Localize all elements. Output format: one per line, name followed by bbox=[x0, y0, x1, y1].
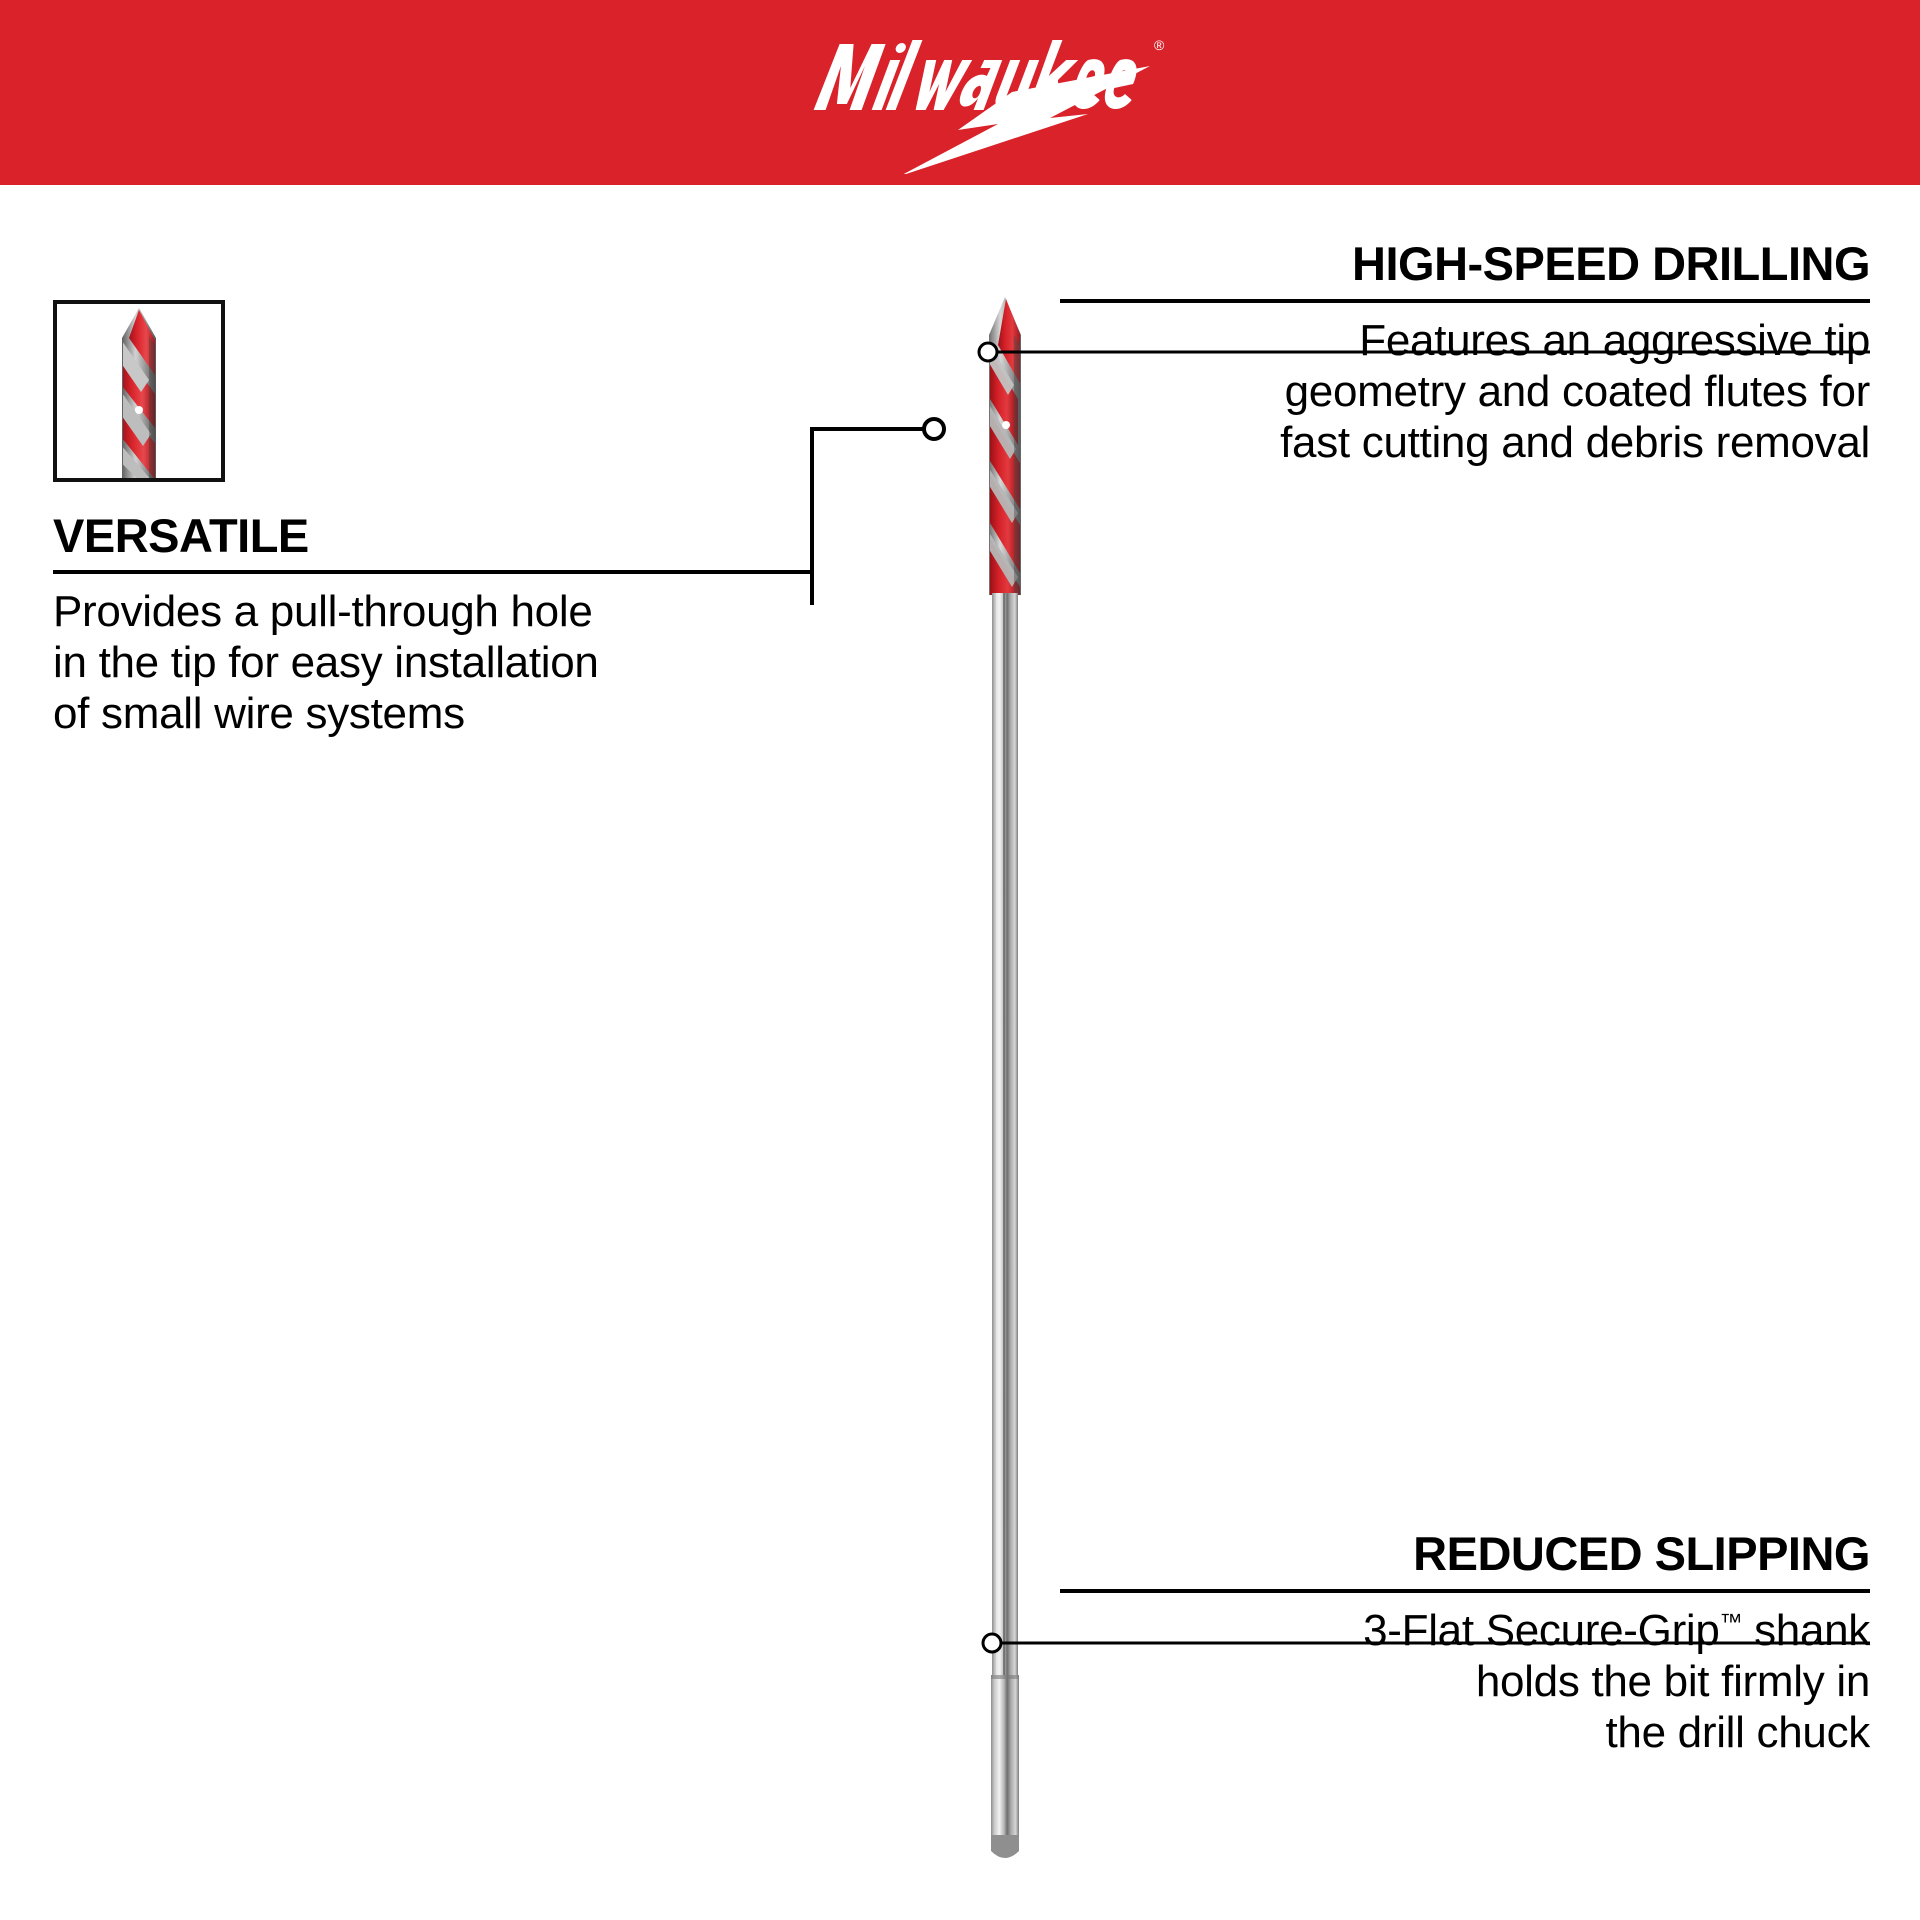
versatile-body: Provides a pull-through hole in the tip … bbox=[53, 586, 813, 739]
high-speed-drilling-divider bbox=[1060, 299, 1870, 303]
high-speed-body-line: Features an aggressive tip bbox=[1060, 315, 1870, 366]
drill-shank bbox=[991, 593, 1019, 1858]
drill-flutes bbox=[982, 297, 1022, 595]
high-speed-body-line: fast cutting and debris removal bbox=[1060, 417, 1870, 468]
versatile-body-line: in the tip for easy installation bbox=[53, 637, 813, 688]
high-speed-body-line: geometry and coated flutes for bbox=[1060, 366, 1870, 417]
header-banner: ® bbox=[0, 0, 1920, 185]
high-speed-drilling-body: Features an aggressive tip geometry and … bbox=[1060, 315, 1870, 468]
high-speed-drilling-heading: HIGH-SPEED DRILLING bbox=[1060, 240, 1870, 288]
callout-versatile: VERSATILE Provides a pull-through hole i… bbox=[53, 300, 813, 739]
callout-high-speed-drilling: HIGH-SPEED DRILLING Features an aggressi… bbox=[1060, 240, 1870, 468]
reduced-slipping-body-line: 3-Flat Secure-Grip™ shank bbox=[1060, 1605, 1870, 1656]
milwaukee-logo: ® bbox=[750, 14, 1170, 174]
pull-through-hole bbox=[1002, 421, 1010, 429]
reduced-slipping-heading: REDUCED SLIPPING bbox=[1060, 1530, 1870, 1578]
drill-bit-image bbox=[940, 295, 1070, 1875]
reduced-slipping-divider bbox=[1060, 1589, 1870, 1593]
reduced-slipping-body-line: holds the bit firmly in bbox=[1060, 1656, 1870, 1707]
callout-reduced-slipping: REDUCED SLIPPING 3-Flat Secure-Grip™ sha… bbox=[1060, 1530, 1870, 1758]
versatile-divider bbox=[53, 570, 813, 574]
shank-text: shank bbox=[1742, 1606, 1870, 1655]
drill-bit-tip-closeup-icon bbox=[79, 304, 199, 482]
versatile-heading: VERSATILE bbox=[53, 512, 813, 560]
reduced-slipping-body-line: the drill chuck bbox=[1060, 1707, 1870, 1758]
versatile-body-line: Provides a pull-through hole bbox=[53, 586, 813, 637]
leader-versatile bbox=[812, 419, 944, 605]
milwaukee-lightning-bolt-icon: ® bbox=[750, 14, 1170, 174]
secure-grip-text: 3-Flat Secure-Grip bbox=[1363, 1606, 1719, 1655]
trademark-symbol: ™ bbox=[1720, 1608, 1743, 1634]
registered-trademark-symbol: ® bbox=[1154, 37, 1165, 53]
versatile-thumbnail bbox=[53, 300, 225, 482]
reduced-slipping-body: 3-Flat Secure-Grip™ shank holds the bit … bbox=[1060, 1605, 1870, 1758]
versatile-body-line: of small wire systems bbox=[53, 688, 813, 739]
